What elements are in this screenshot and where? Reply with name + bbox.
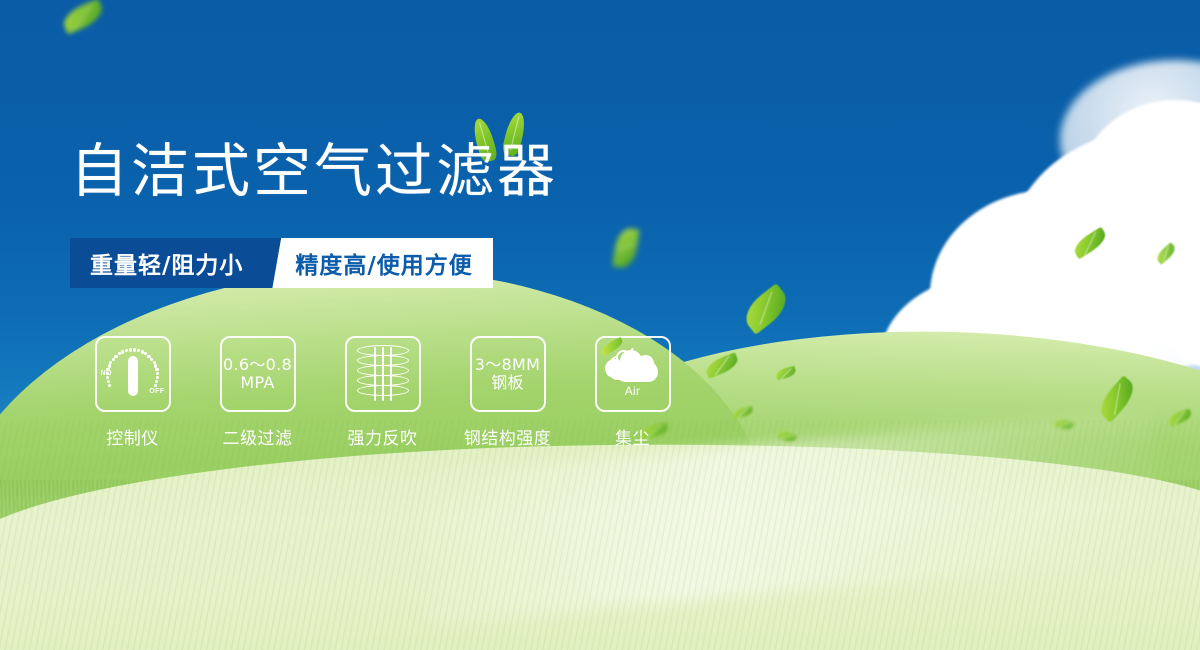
subtitle-tag-secondary: 精度高/使用方便 <box>291 238 492 288</box>
product-banner: 自洁式空气过滤器 重量轻/阻力小 精度高/使用方便 NO OFF 控制仪 <box>0 0 1200 650</box>
feature-label: 集尘 <box>615 424 650 449</box>
feature-label: 控制仪 <box>106 424 159 449</box>
gauge-tick-dot <box>125 349 128 352</box>
cloud-small-body <box>610 366 626 380</box>
feature-icon-box: Air <box>595 336 671 412</box>
feature-list: NO OFF 控制仪 0.6～0.8 MPA 二级过滤 <box>70 336 695 449</box>
gauge-tick-dot <box>114 355 117 358</box>
feature-item-steel-strength[interactable]: 3～8MM 钢板 钢结构强度 <box>445 336 570 449</box>
gauge-tick-dot <box>156 376 159 379</box>
banner-content: 自洁式空气过滤器 重量轻/阻力小 精度高/使用方便 NO OFF 控制仪 <box>0 0 1200 650</box>
page-title: 自洁式空气过滤器 <box>70 142 558 200</box>
gauge-tick-dot <box>154 384 157 387</box>
feature-icon-box: 0.6～0.8 MPA <box>220 336 296 412</box>
gauge-needle <box>128 356 138 396</box>
gauge-tick-dot <box>137 349 140 352</box>
feature-label: 二级过滤 <box>223 424 293 449</box>
feature-item-filtration[interactable]: 0.6～0.8 MPA 二级过滤 <box>195 336 320 449</box>
feature-item-blowback[interactable]: 强力反吹 <box>320 336 445 449</box>
gauge-tick-dot <box>109 361 112 364</box>
steel-plate-text-icon: 3～8MM 钢板 <box>475 356 540 392</box>
pressure-value: 0.6～0.8 <box>223 355 292 374</box>
steel-thickness: 3～8MM <box>475 355 540 374</box>
air-caption: Air <box>604 384 662 398</box>
pressure-text-icon: 0.6～0.8 MPA <box>223 356 292 392</box>
gauge-tick-dot <box>112 358 115 361</box>
gauge-tick-dot <box>155 380 158 383</box>
gauge-tick-dot <box>121 350 124 353</box>
gauge-tick-dot <box>154 364 157 367</box>
gauge-tick-dot <box>133 348 136 351</box>
gauge-dial-icon: NO OFF <box>102 344 164 404</box>
steel-material: 钢板 <box>475 374 540 392</box>
subtitle-tag-divider <box>265 238 291 288</box>
gauge-label-right: OFF <box>149 388 164 395</box>
subtitle-tag-bar: 重量轻/阻力小 精度高/使用方便 <box>70 238 493 288</box>
feature-item-dust-collection[interactable]: Air 集尘 <box>570 336 695 449</box>
gauge-tick-dot <box>108 364 111 367</box>
gauge-tick-dot <box>108 384 111 387</box>
gauge-tick-dot <box>156 372 159 375</box>
gauge-tick-dot <box>106 376 109 379</box>
gauge-tick-dot <box>155 368 158 371</box>
feature-item-controller[interactable]: NO OFF 控制仪 <box>70 336 195 449</box>
airflow-stack-icon <box>357 345 409 403</box>
cloud-air-icon: Air <box>604 346 662 402</box>
feature-label: 钢结构强度 <box>464 424 552 449</box>
feature-icon-box <box>345 336 421 412</box>
feature-icon-box: 3～8MM 钢板 <box>470 336 546 412</box>
subtitle-tag-primary: 重量轻/阻力小 <box>70 238 265 288</box>
gauge-tick-dot <box>129 348 132 351</box>
gauge-tick-dot <box>107 380 110 383</box>
pressure-unit: MPA <box>223 374 292 392</box>
feature-icon-box: NO OFF <box>95 336 171 412</box>
feature-label: 强力反吹 <box>348 424 418 449</box>
